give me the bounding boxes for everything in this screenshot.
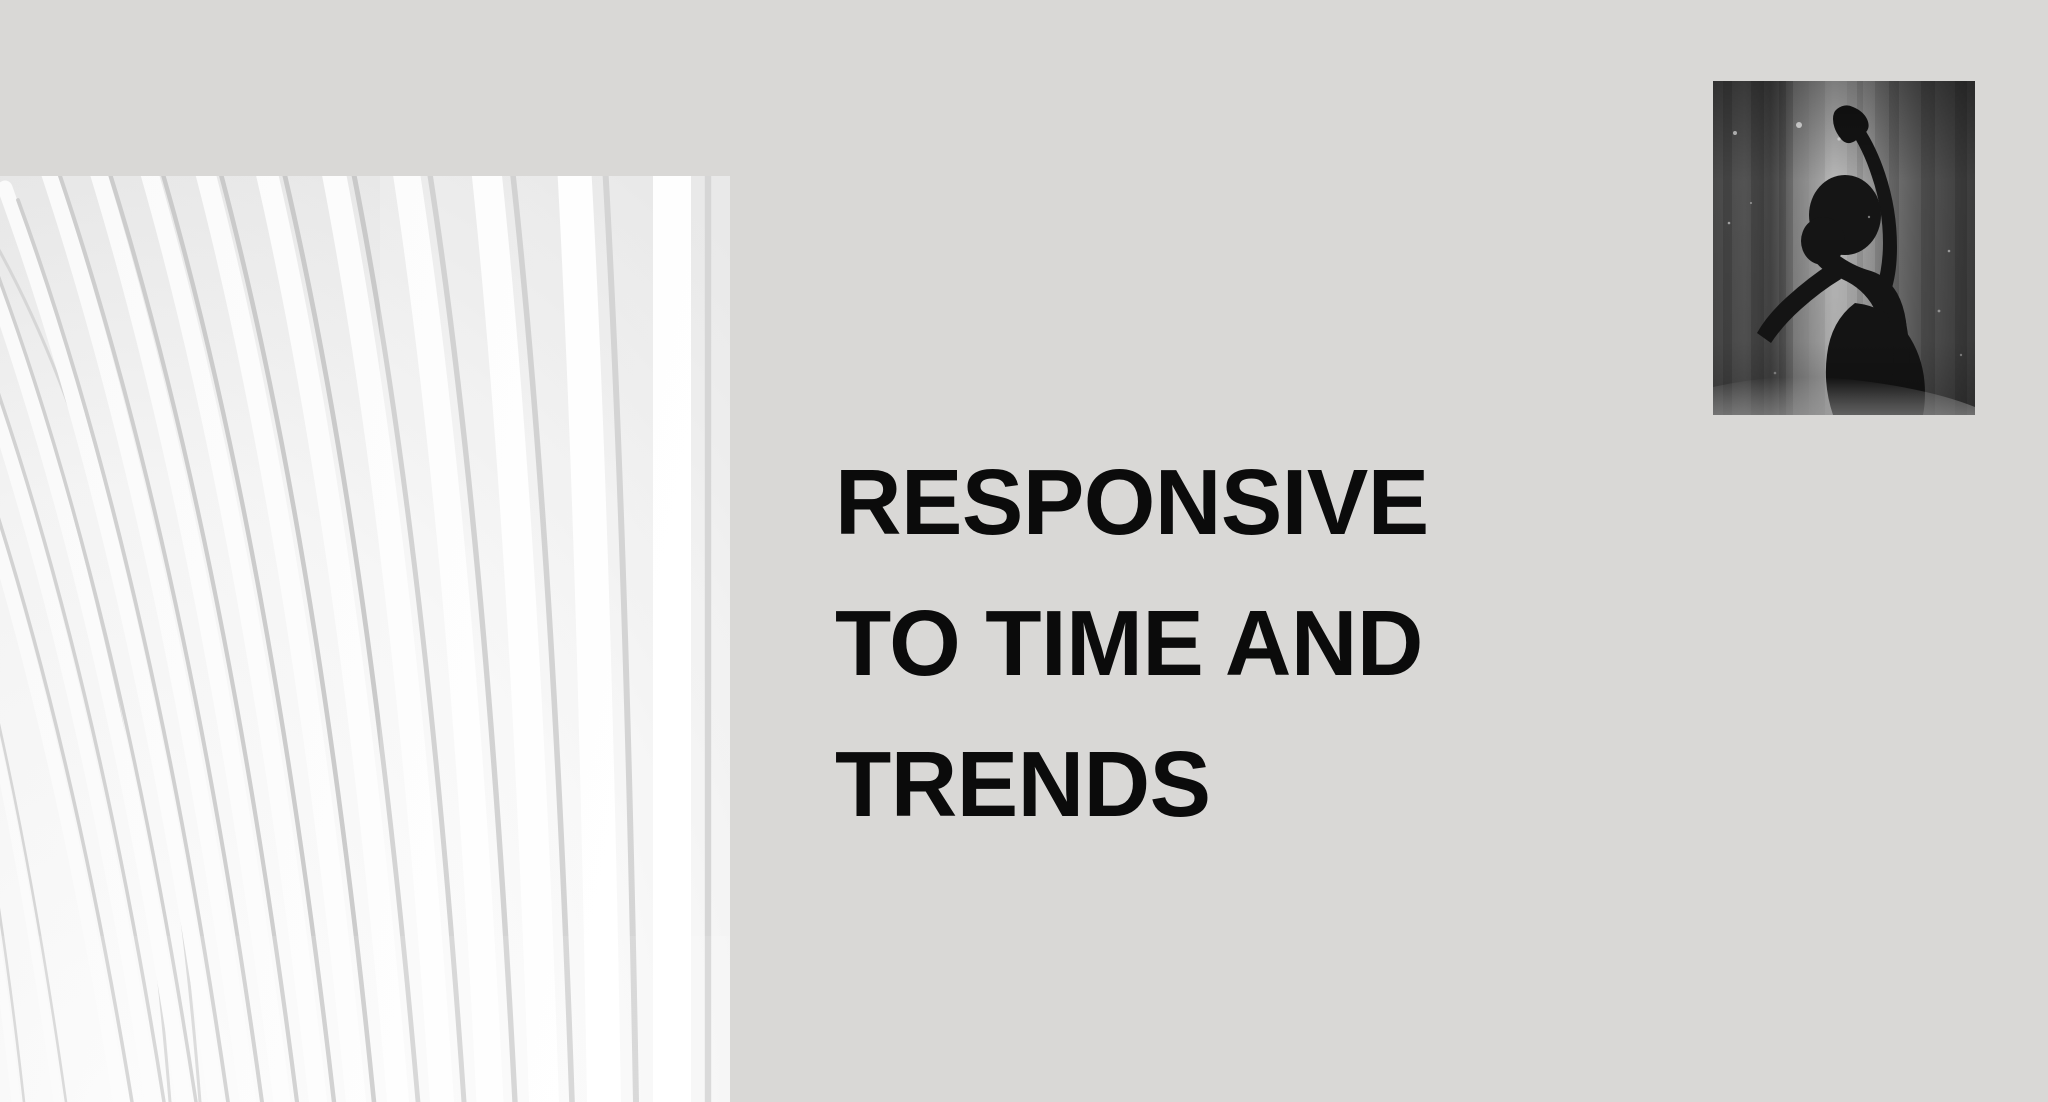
slide-canvas: RESPONSIVE TO TIME AND TRENDS: [0, 0, 2048, 1102]
dancer-photo: [1713, 81, 1975, 415]
architecture-image: [0, 176, 730, 1102]
headline-line-2: TO TIME AND: [835, 573, 1587, 714]
headline: RESPONSIVE TO TIME AND TRENDS: [835, 432, 1595, 855]
headline-line-3: TRENDS: [835, 714, 1587, 855]
headline-line-1: RESPONSIVE: [835, 432, 1587, 573]
